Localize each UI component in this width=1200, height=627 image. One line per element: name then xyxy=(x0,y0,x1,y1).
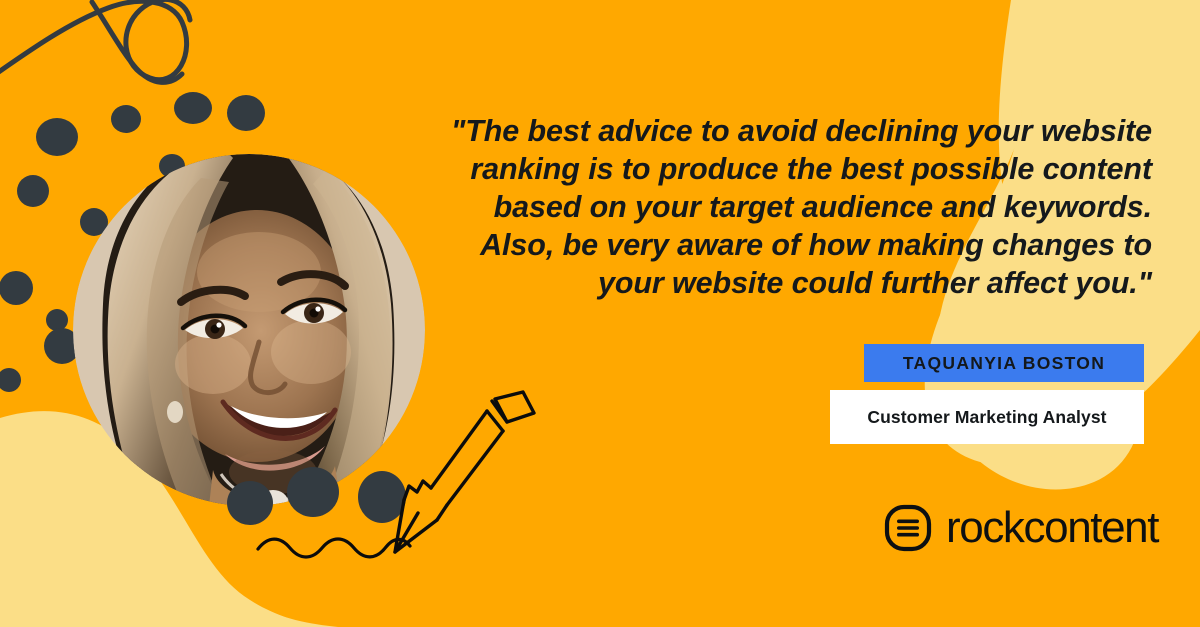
portrait-photo xyxy=(73,154,425,506)
name-badge: TAQUANYIA BOSTON xyxy=(864,344,1144,382)
person-name: TAQUANYIA BOSTON xyxy=(903,353,1105,374)
brand-logo: rockcontent xyxy=(884,500,1158,556)
person-role: Customer Marketing Analyst xyxy=(867,407,1106,428)
rockcontent-logo-icon xyxy=(884,504,932,552)
quote-text: "The best advice to avoid declining your… xyxy=(440,112,1152,302)
quote-card: "The best advice to avoid declining your… xyxy=(0,0,1200,627)
brand-name: rockcontent xyxy=(946,506,1158,550)
avatar xyxy=(73,154,425,506)
role-badge: Customer Marketing Analyst xyxy=(830,390,1144,444)
